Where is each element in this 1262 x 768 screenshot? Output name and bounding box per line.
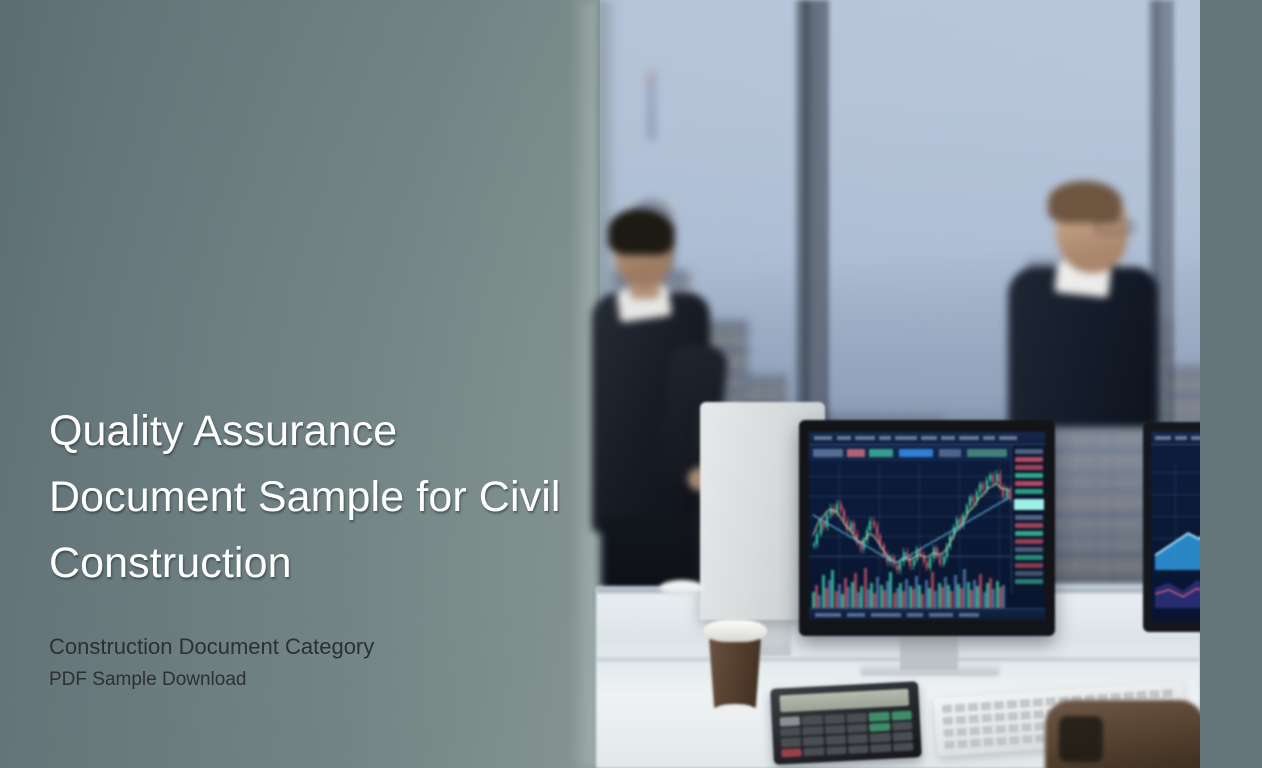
candlestick-wick bbox=[996, 470, 997, 485]
calculator-key bbox=[848, 734, 869, 744]
candlestick-wick bbox=[983, 481, 984, 493]
calculator-key bbox=[892, 721, 913, 731]
calculator-key bbox=[891, 711, 912, 721]
calculator-key bbox=[870, 743, 891, 753]
candlestick-wick bbox=[980, 481, 981, 496]
calculator bbox=[770, 681, 922, 765]
candlestick-wick bbox=[857, 530, 858, 546]
candlestick-wick bbox=[1000, 470, 1001, 490]
trading-monitor bbox=[799, 420, 1055, 636]
calculator-key bbox=[892, 732, 913, 742]
candlestick-wick bbox=[843, 507, 844, 524]
volume-pane bbox=[809, 556, 1011, 608]
candlestick-wick bbox=[960, 516, 961, 530]
candlestick-wick bbox=[840, 500, 841, 514]
secondary-lower-chart bbox=[1155, 552, 1200, 608]
candlestick-wick bbox=[1003, 483, 1004, 500]
chart-toolbar bbox=[809, 432, 1045, 445]
title-line-3: Construction bbox=[49, 539, 292, 587]
slide-text-block: Quality Assurance Document Sample for Ci… bbox=[49, 398, 589, 695]
businessman-background bbox=[1000, 185, 1185, 420]
calculator-key bbox=[781, 748, 802, 758]
secondary-chart-screen bbox=[1151, 432, 1200, 622]
candlestick-wick bbox=[973, 494, 974, 506]
candlestick-wick bbox=[827, 512, 828, 531]
calculator-key bbox=[781, 737, 802, 747]
candlestick-wick bbox=[963, 512, 964, 529]
candlestick-wick bbox=[1006, 486, 1007, 501]
candlestick-wick bbox=[850, 520, 851, 534]
calculator-key bbox=[824, 714, 845, 724]
calculator-key bbox=[847, 713, 868, 723]
candlestick-wick bbox=[986, 477, 987, 493]
order-book-rail bbox=[1011, 445, 1045, 594]
chart-statusbar bbox=[809, 608, 1045, 620]
secondary-monitor bbox=[1143, 422, 1200, 632]
candlestick-wick bbox=[830, 504, 831, 519]
desk-seam bbox=[596, 658, 1200, 661]
coffee-cup bbox=[706, 620, 764, 712]
calculator-key bbox=[869, 722, 890, 732]
calculator-key bbox=[869, 712, 890, 722]
calculator-key bbox=[847, 723, 868, 733]
candlestick-wick bbox=[993, 472, 994, 486]
calculator-key bbox=[826, 746, 847, 756]
document-category: Construction Document Category bbox=[49, 628, 589, 665]
trading-chart-screen bbox=[809, 432, 1045, 620]
chart-infobar bbox=[809, 445, 1045, 461]
candlestick-wick bbox=[990, 472, 991, 484]
calculator-key bbox=[870, 733, 891, 743]
candlestick-wick bbox=[863, 537, 864, 553]
volume-bar bbox=[1002, 585, 1005, 608]
candlestick-wick bbox=[873, 517, 874, 529]
secondary-chart-toolbar bbox=[1151, 432, 1200, 445]
page-title: Quality Assurance Document Sample for Ci… bbox=[49, 398, 589, 596]
slide-right-margin bbox=[1200, 0, 1262, 768]
candlestick-wick bbox=[870, 517, 871, 533]
candlestick-wick bbox=[823, 519, 824, 531]
title-line-2: Document Sample for Civil bbox=[49, 473, 561, 521]
candlestick-wick bbox=[966, 503, 967, 519]
candlestick-wick bbox=[833, 504, 834, 516]
calculator-key bbox=[802, 726, 823, 736]
calculator-key bbox=[780, 716, 801, 726]
title-line-1: Quality Assurance bbox=[49, 407, 397, 455]
candlestick-wick bbox=[976, 489, 977, 506]
calculator-key bbox=[802, 715, 823, 725]
candlestick-wick bbox=[970, 494, 971, 510]
candlestick-wick bbox=[817, 530, 818, 547]
calculator-key bbox=[780, 727, 801, 737]
candlestick-wick bbox=[956, 516, 957, 531]
office-chair bbox=[1045, 700, 1200, 768]
monitor-stand bbox=[900, 634, 958, 670]
computer-mouse bbox=[660, 580, 704, 595]
candlestick-wick bbox=[814, 541, 815, 550]
candlestick-wick bbox=[877, 522, 878, 539]
candlestick-wick bbox=[847, 517, 848, 533]
candlestick-wick bbox=[837, 500, 838, 516]
presentation-slide: Quality Assurance Document Sample for Ci… bbox=[0, 0, 1262, 768]
download-caption: PDF Sample Download bbox=[49, 665, 589, 695]
calculator-key bbox=[825, 735, 846, 745]
candlestick-wick bbox=[953, 524, 954, 540]
candlestick-wick bbox=[853, 520, 854, 537]
calculator-key bbox=[848, 744, 869, 754]
calculator-key bbox=[804, 747, 825, 757]
candlestick-wick bbox=[860, 539, 861, 553]
candlestick-wick bbox=[820, 519, 821, 538]
calculator-key bbox=[893, 742, 914, 752]
candlestick-wick bbox=[950, 533, 951, 550]
candlestick-wick bbox=[867, 526, 868, 543]
calculator-key bbox=[803, 736, 824, 746]
calculator-key bbox=[825, 725, 846, 735]
candlestick-wick bbox=[880, 533, 881, 549]
